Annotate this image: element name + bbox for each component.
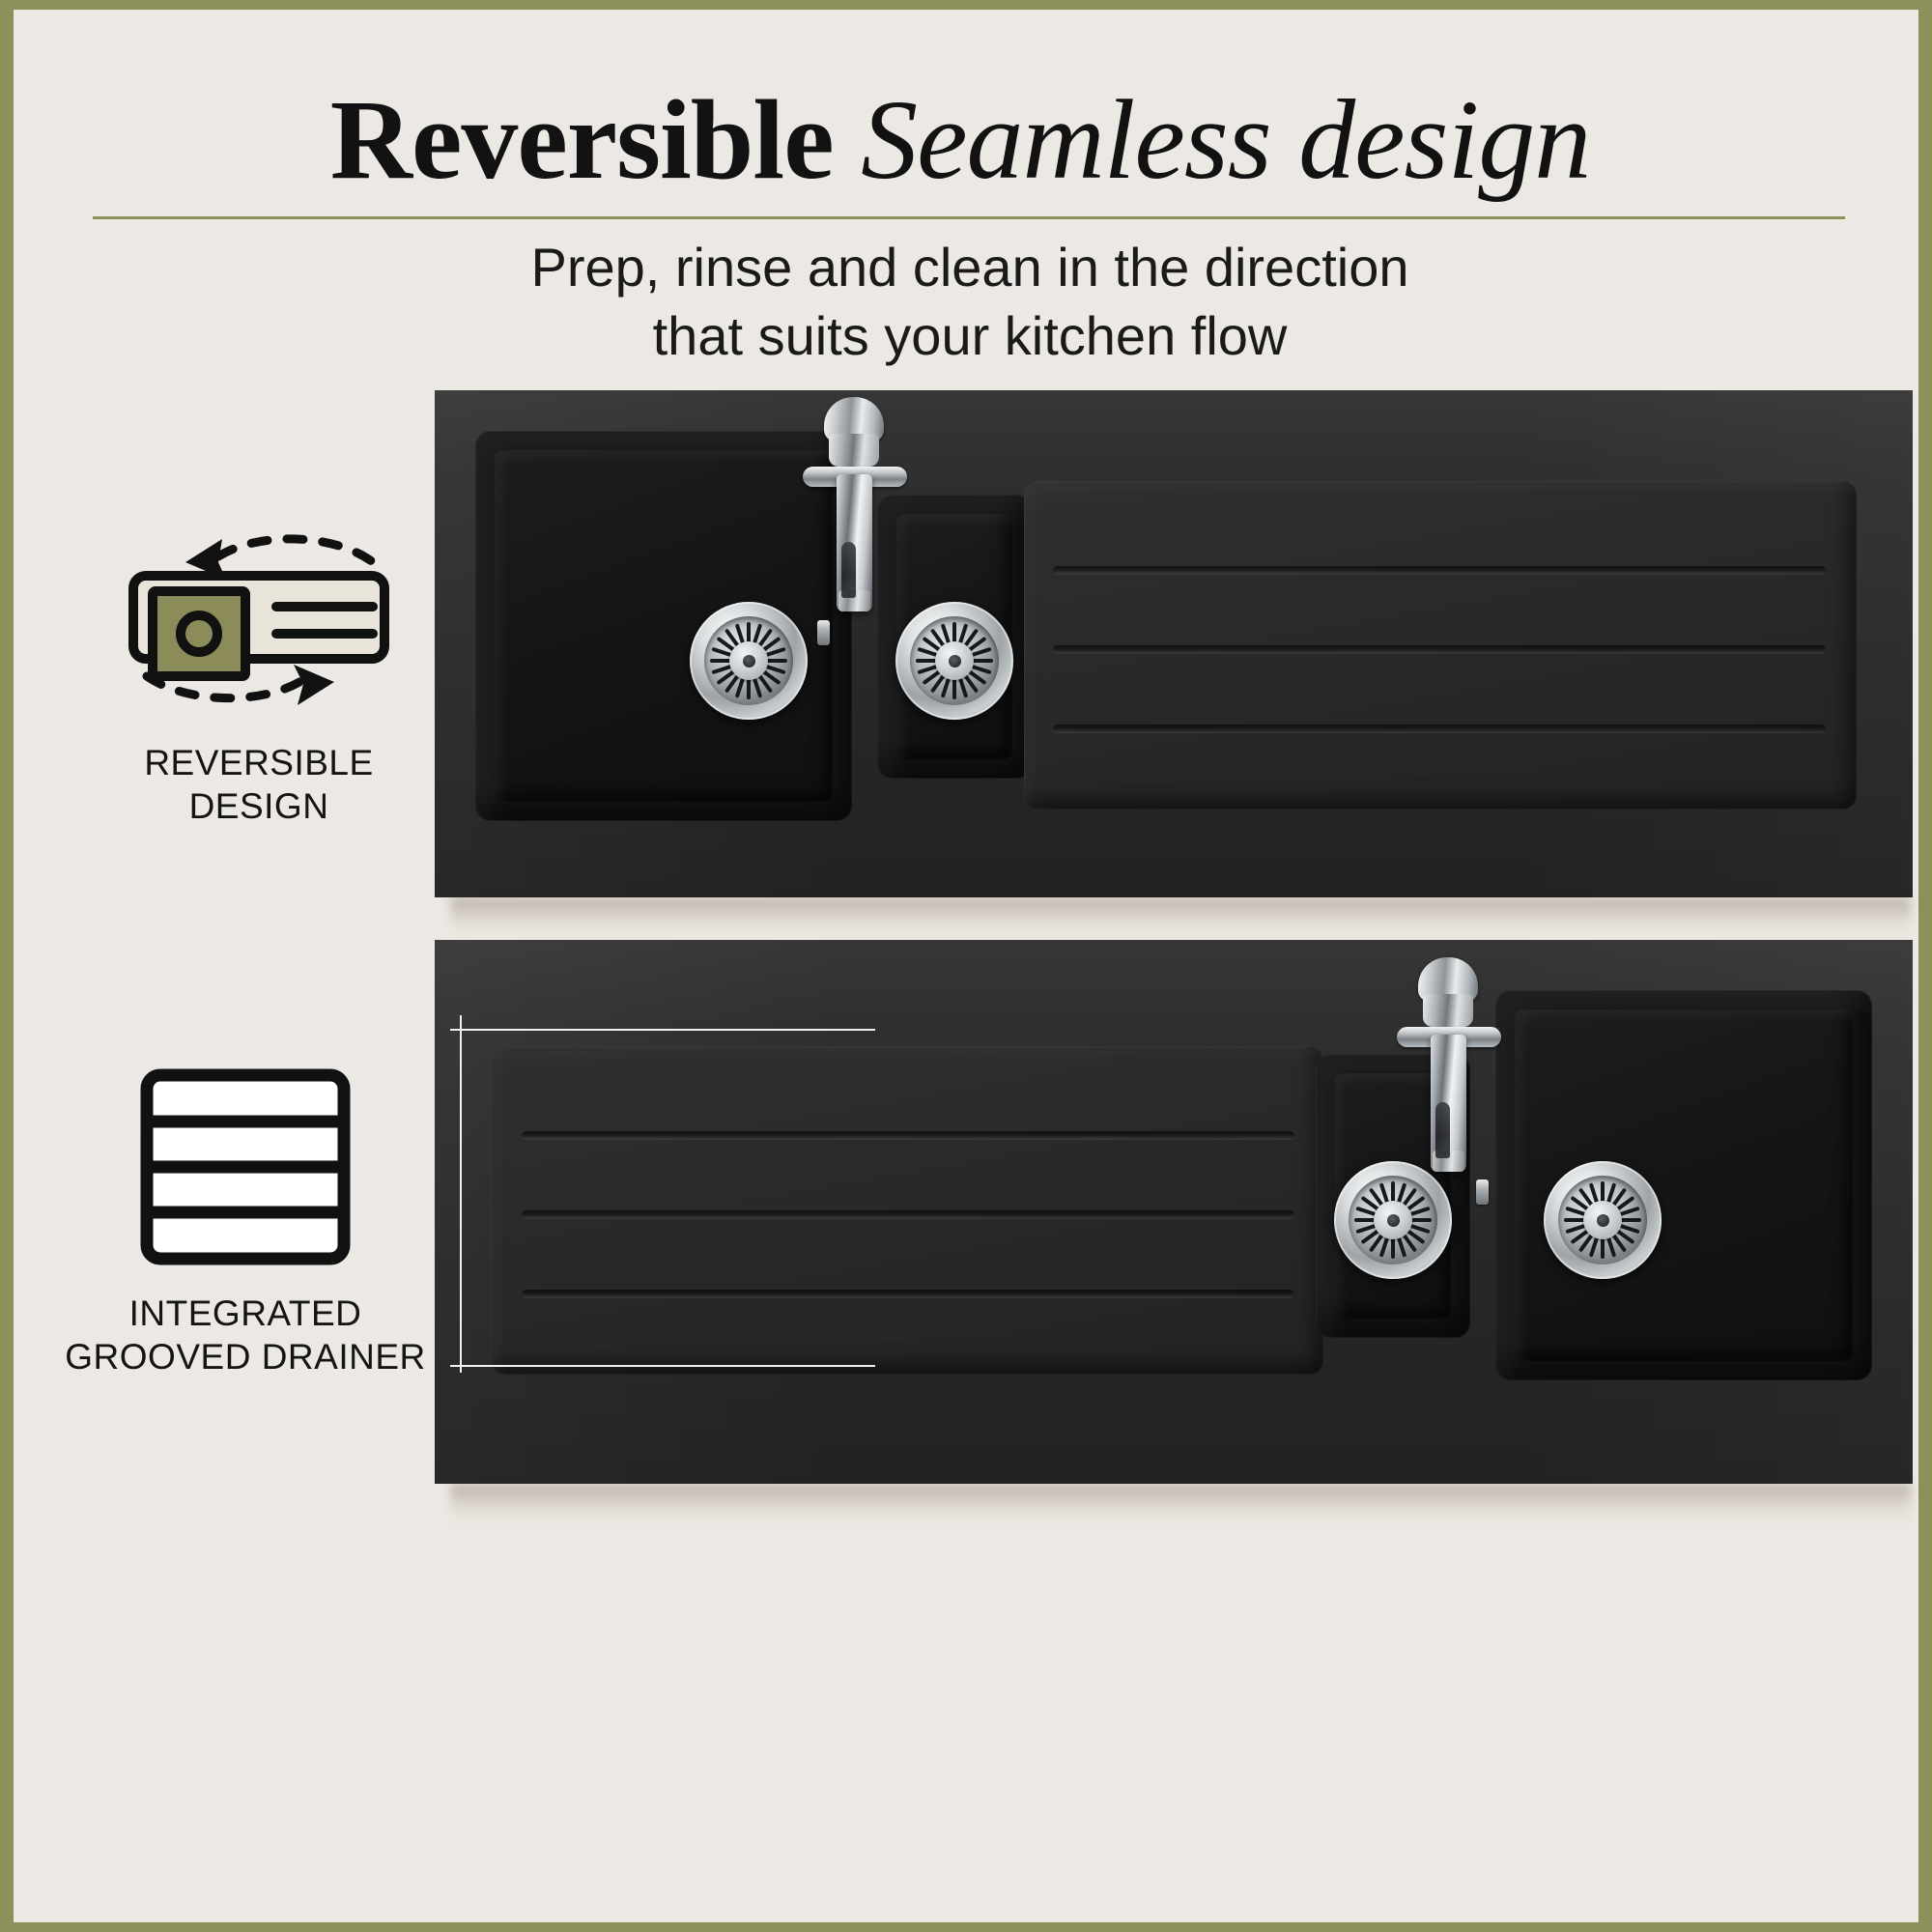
page-title: Reversible Seamless design bbox=[91, 83, 1830, 197]
dimension-tick-top bbox=[460, 1015, 462, 1031]
sink-top-shadow bbox=[450, 897, 1911, 940]
strainer-hub bbox=[935, 641, 974, 680]
feature-label-line-1: REVERSIBLE bbox=[56, 741, 462, 784]
tap-reflection bbox=[841, 542, 856, 598]
strainer-face bbox=[1349, 1176, 1437, 1264]
grooved-drainer bbox=[1024, 481, 1857, 810]
grooved-drainer-icon-svg bbox=[134, 1063, 356, 1270]
grooved-drainer bbox=[491, 1046, 1323, 1375]
drainer-groove bbox=[522, 1131, 1294, 1140]
main-bowl-strainer bbox=[690, 602, 808, 720]
drainer-groove bbox=[522, 1290, 1294, 1298]
feature-reversible-design-label: REVERSIBLE DESIGN bbox=[56, 741, 462, 828]
reversible-sink-rotate-icon-svg bbox=[114, 512, 404, 720]
content-panel: Reversible Seamless design Prep, rinse a… bbox=[14, 10, 1918, 1922]
feature-grooved-drainer-label: INTEGRATED GROOVED DRAINER bbox=[43, 1292, 448, 1378]
grooved-drainer-icon bbox=[43, 1063, 448, 1270]
dimension-guide-top bbox=[450, 1029, 875, 1031]
strainer-face bbox=[1558, 1176, 1647, 1264]
strainer-hub bbox=[1583, 1201, 1622, 1239]
dimension-guide-bottom bbox=[450, 1365, 875, 1367]
title-divider bbox=[93, 216, 1845, 219]
strainer-hub bbox=[1374, 1201, 1412, 1239]
deck-clip bbox=[1476, 1179, 1489, 1205]
strainer-face bbox=[704, 616, 793, 705]
dimension-tick-bottom bbox=[460, 1357, 462, 1373]
feature-label-line-1: INTEGRATED bbox=[43, 1292, 448, 1335]
dimension-guide-vertical bbox=[460, 1015, 462, 1371]
title-regular-part: Reversible bbox=[330, 76, 834, 203]
tap-reflection bbox=[1435, 1102, 1450, 1158]
title-italic-part: Seamless design bbox=[861, 76, 1590, 203]
drainer-groove bbox=[1053, 645, 1826, 654]
strainer-hub bbox=[729, 641, 768, 680]
page-subtitle: Prep, rinse and clean in the direction t… bbox=[110, 234, 1830, 370]
drainer-groove bbox=[1053, 566, 1826, 575]
product-image-sink-right-hand bbox=[435, 940, 1913, 1484]
marketing-banner: Reversible Seamless design Prep, rinse a… bbox=[0, 0, 1932, 1932]
feature-label-line-2: DESIGN bbox=[56, 784, 462, 828]
feature-grooved-drainer: INTEGRATED GROOVED DRAINER bbox=[43, 1063, 448, 1378]
tap-neck bbox=[1423, 994, 1473, 1027]
main-bowl bbox=[1495, 990, 1872, 1380]
half-bowl-strainer bbox=[1334, 1161, 1452, 1279]
feature-label-line-2: GROOVED DRAINER bbox=[43, 1335, 448, 1378]
reversible-sink-rotate-icon bbox=[56, 512, 462, 720]
main-bowl-strainer bbox=[1544, 1161, 1662, 1279]
product-image-sink-left-hand bbox=[435, 390, 1913, 897]
tap-neck bbox=[829, 434, 879, 467]
deck-clip bbox=[817, 620, 830, 645]
strainer-face bbox=[910, 616, 999, 705]
sink-bottom-shadow bbox=[450, 1484, 1911, 1528]
subtitle-line-2: that suits your kitchen flow bbox=[110, 302, 1830, 371]
subtitle-line-1: Prep, rinse and clean in the direction bbox=[110, 234, 1830, 302]
half-bowl-strainer bbox=[895, 602, 1013, 720]
drainer-groove bbox=[1053, 724, 1826, 733]
feature-reversible-design: REVERSIBLE DESIGN bbox=[56, 512, 462, 828]
drainer-groove bbox=[522, 1210, 1294, 1219]
